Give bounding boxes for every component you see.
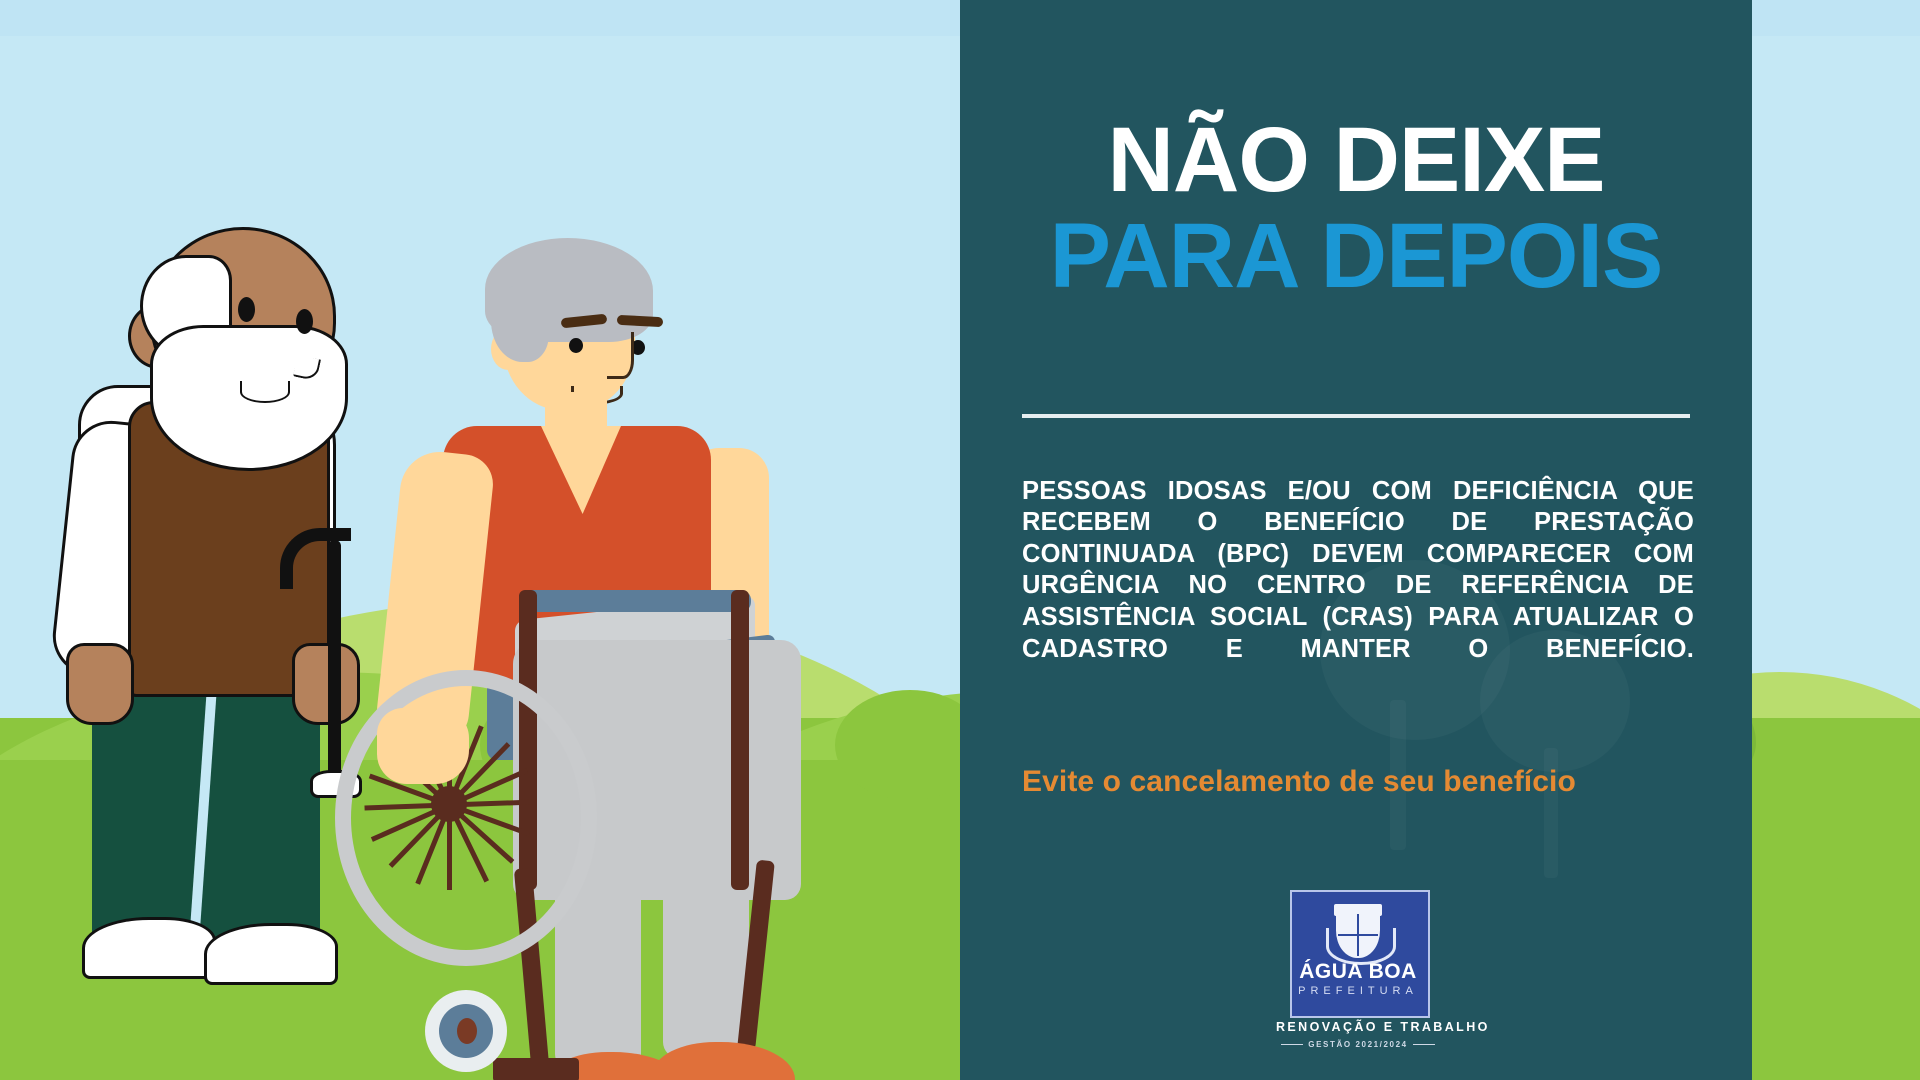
- walking-cane: [328, 540, 341, 790]
- elderly-man-eye-left: [238, 297, 255, 322]
- wheelchair-man-eye-left: [569, 338, 583, 353]
- elderly-man-hand-left: [66, 643, 134, 725]
- wheelchair-man-hand-left: [377, 708, 469, 784]
- logo-subtitle: PREFEITURA: [1290, 985, 1426, 997]
- headline-line-1: NÃO DEIXE: [960, 114, 1752, 206]
- wheelchair-caster-inner: [457, 1018, 477, 1044]
- logo-term: GESTÃO 2021/2024: [1276, 1040, 1440, 1049]
- headline-block: NÃO DEIXE PARA DEPOIS: [960, 114, 1752, 302]
- figure-wheelchair-man: [395, 220, 815, 1000]
- poster-root: NÃO DEIXE PARA DEPOIS PESSOAS IDOSAS E/O…: [0, 0, 1920, 1080]
- elderly-man-hand-right: [292, 643, 360, 725]
- logo-tagline: RENOVAÇÃO E TRABALHO: [1276, 1020, 1440, 1034]
- headline-divider: [1022, 414, 1690, 418]
- elderly-man-shoe-right: [204, 923, 338, 985]
- wheelchair-frame-armpost-2: [731, 590, 749, 890]
- coat-of-arms-icon: [1326, 900, 1390, 960]
- logo-term-text: GESTÃO 2021/2024: [1308, 1040, 1407, 1049]
- wheelchair-footplate: [493, 1058, 579, 1080]
- elderly-man-smile: [240, 381, 290, 403]
- logo-city-name: ÁGUA BOA: [1290, 960, 1426, 984]
- headline-line-2: PARA DEPOIS: [960, 210, 1752, 302]
- bush-5: [1740, 870, 1860, 948]
- wheelchair-armrest: [521, 590, 751, 612]
- wheel-hub: [431, 786, 467, 822]
- kicker-text: Evite o cancelamento de seu benefício: [1022, 765, 1722, 799]
- wheelchair-man-nose: [607, 332, 634, 379]
- body-copy: PESSOAS IDOSAS E/OU COM DEFICIÊNCIA QUE …: [1022, 476, 1694, 697]
- elderly-man-shoe-left: [82, 917, 216, 979]
- elderly-man-eye-right: [296, 309, 313, 334]
- prefeitura-logo: ÁGUA BOA PREFEITURA RENOVAÇÃO E TRABALHO…: [1290, 890, 1426, 1060]
